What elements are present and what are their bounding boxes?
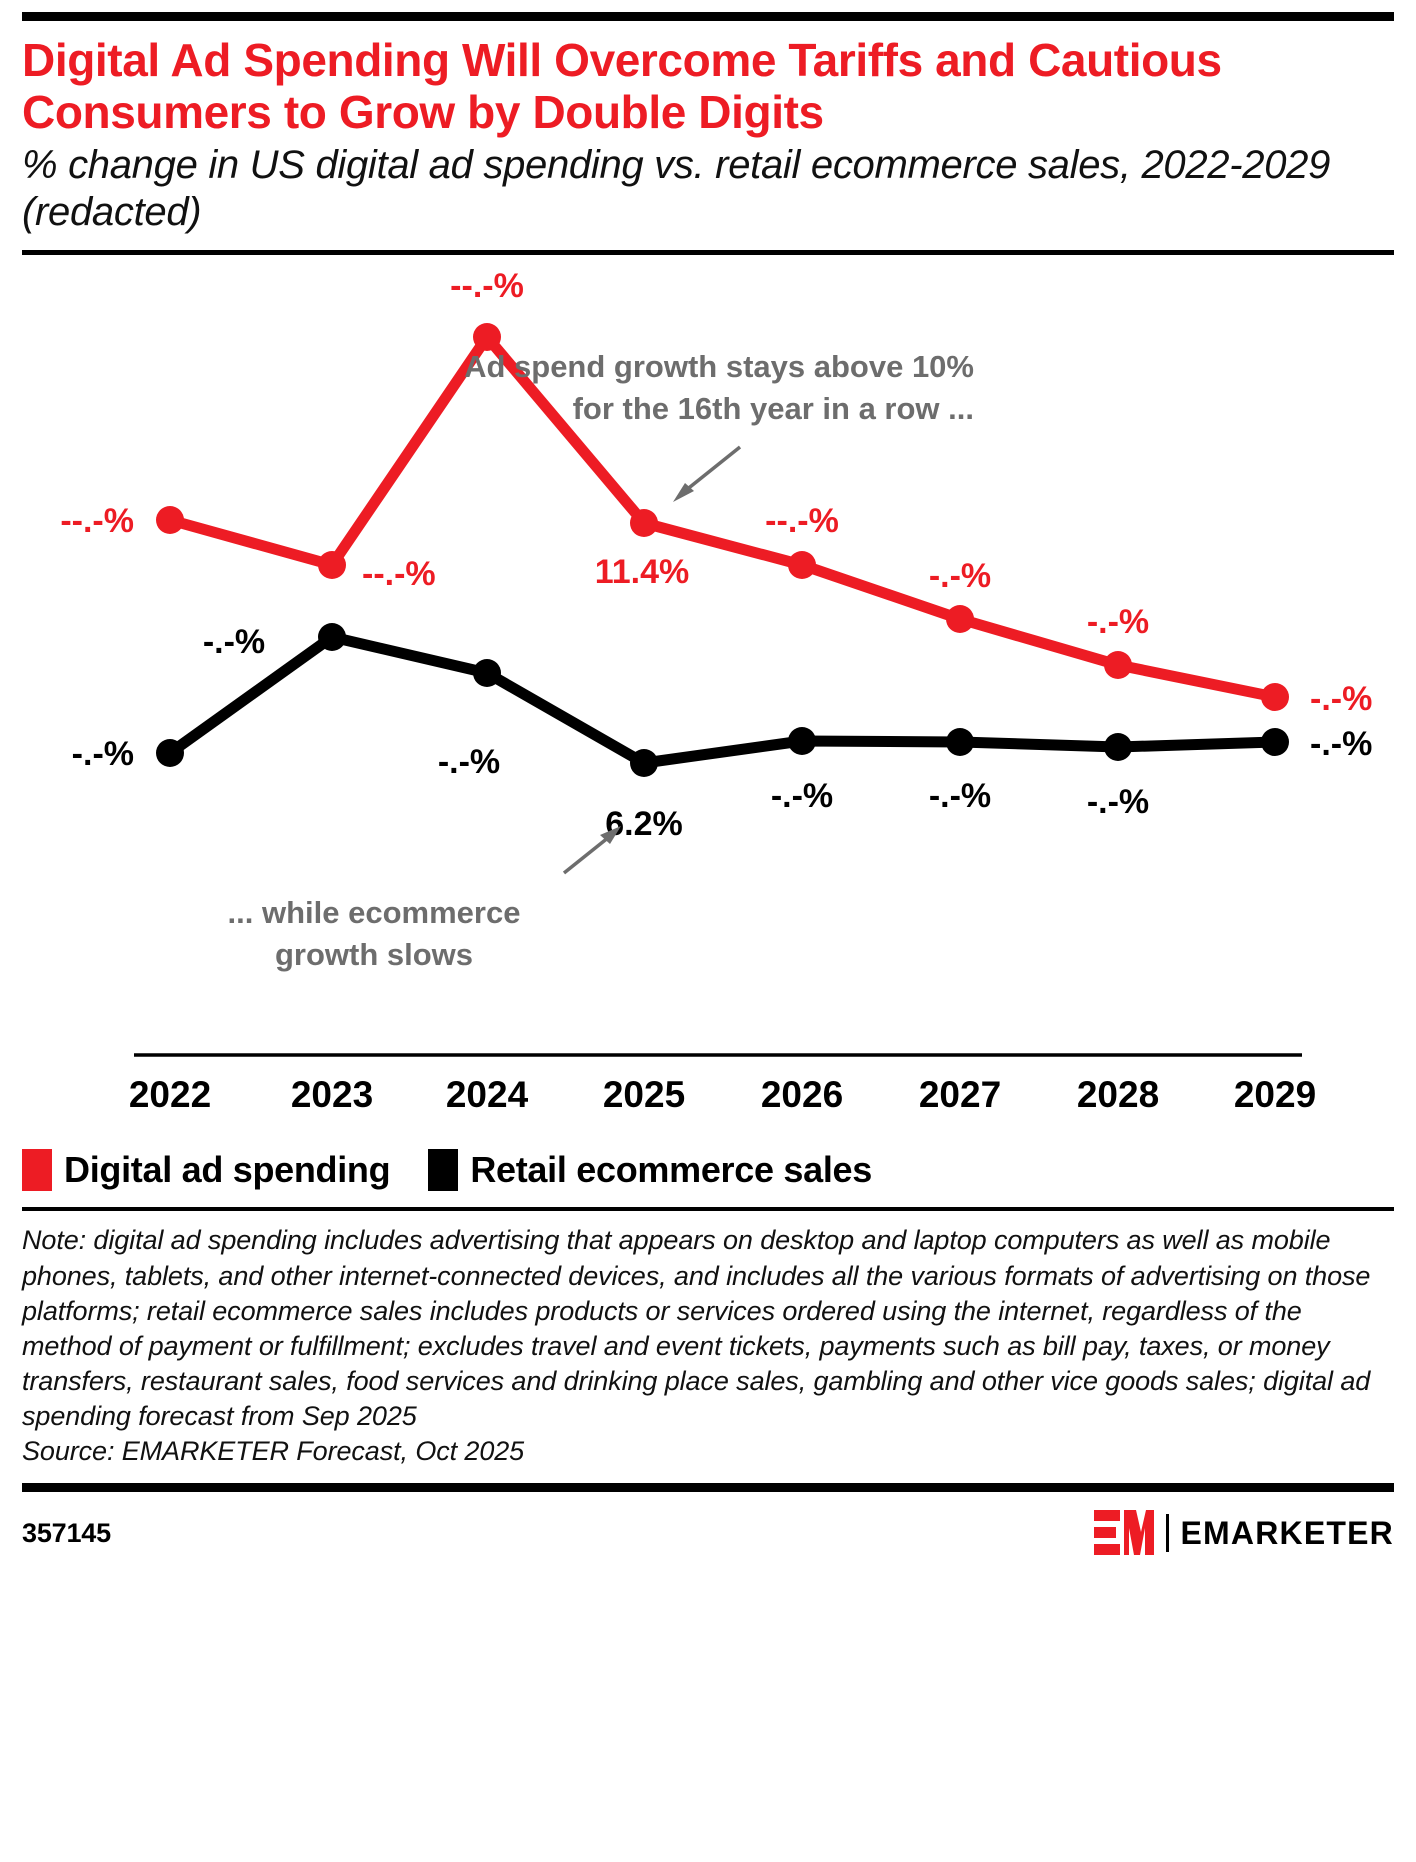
data-label-ecommerce-2023: -.-% xyxy=(203,623,265,661)
annotation-ad-spend-line2: for the 16th year in a row ... xyxy=(573,391,974,426)
annotation-ad-spend-line1: Ad spend growth stays above 10% xyxy=(464,349,974,384)
bottom-rule xyxy=(22,1483,1394,1492)
x-tick-2027: 2027 xyxy=(919,1074,1001,1115)
brand-name: EMARKETER xyxy=(1181,1515,1394,1552)
annotation-arrow-ecommerce xyxy=(564,826,621,873)
data-label-digital-2022: --.-% xyxy=(60,502,134,540)
data-label-digital-2026: --.-% xyxy=(765,502,839,540)
data-label-digital-2027: -.-% xyxy=(929,557,991,595)
x-tick-2023: 2023 xyxy=(291,1074,373,1115)
data-label-ecommerce-2028: -.-% xyxy=(1087,783,1149,821)
x-tick-2025: 2025 xyxy=(603,1074,685,1115)
annotation-ecommerce-line2: growth slows xyxy=(275,937,473,972)
data-label-ecommerce-2026: -.-% xyxy=(771,777,833,815)
logo-divider xyxy=(1166,1514,1169,1552)
top-rule xyxy=(22,12,1394,21)
data-label-digital-2029: -.-% xyxy=(1310,680,1372,718)
infographic-page: Digital Ad Spending Will Overcome Tariff… xyxy=(0,0,1416,1862)
data-label-ecommerce-2029: -.-% xyxy=(1310,725,1372,763)
page-title: Digital Ad Spending Will Overcome Tariff… xyxy=(22,35,1394,138)
legend-item-retail-ecommerce-sales: Retail ecommerce sales xyxy=(428,1149,872,1191)
data-label-ecommerce-2025: 6.2% xyxy=(605,805,683,843)
data-label-digital-2028: -.-% xyxy=(1087,603,1149,641)
legend-swatch-black xyxy=(428,1149,458,1191)
page-subtitle: % change in US digital ad spending vs. r… xyxy=(22,142,1394,236)
page-footer: 357145 EMARKETER xyxy=(22,1510,1394,1556)
data-label-ecommerce-2022: -.-% xyxy=(72,735,134,773)
em-mark-icon xyxy=(1094,1510,1154,1556)
data-label-digital-2024: --.-% xyxy=(450,267,524,305)
emarketer-logo: EMARKETER xyxy=(1094,1510,1394,1556)
chart-legend: Digital ad spending Retail ecommerce sal… xyxy=(22,1149,1394,1191)
source-text: Source: EMARKETER Forecast, Oct 2025 xyxy=(22,1434,1394,1469)
x-tick-2022: 2022 xyxy=(129,1074,211,1115)
x-tick-2029: 2029 xyxy=(1234,1074,1316,1115)
data-label-digital-2025: 11.4% xyxy=(595,553,690,591)
legend-swatch-red xyxy=(22,1149,52,1191)
chart-svg: --.-% --.-% --.-% 11.4% --.-% -.-% -.-% … xyxy=(22,255,1394,1135)
note-divider xyxy=(22,1207,1394,1211)
chart-id: 357145 xyxy=(22,1518,111,1549)
legend-item-digital-ad-spending: Digital ad spending xyxy=(22,1149,390,1191)
data-label-ecommerce-2027: -.-% xyxy=(929,777,991,815)
line-chart: --.-% --.-% --.-% 11.4% --.-% -.-% -.-% … xyxy=(22,255,1394,1135)
annotation-arrow-ad-spend xyxy=(673,447,740,502)
x-tick-2024: 2024 xyxy=(446,1074,529,1115)
annotation-ecommerce-line1: ... while ecommerce xyxy=(228,895,521,930)
data-label-ecommerce-2024: -.-% xyxy=(438,743,500,781)
note-text: Note: digital ad spending includes adver… xyxy=(22,1223,1394,1434)
x-tick-2026: 2026 xyxy=(761,1074,843,1115)
legend-label-digital-ad-spending: Digital ad spending xyxy=(64,1149,390,1191)
legend-label-retail-ecommerce-sales: Retail ecommerce sales xyxy=(470,1149,872,1191)
data-label-digital-2023: --.-% xyxy=(362,555,436,593)
x-tick-2028: 2028 xyxy=(1077,1074,1159,1115)
